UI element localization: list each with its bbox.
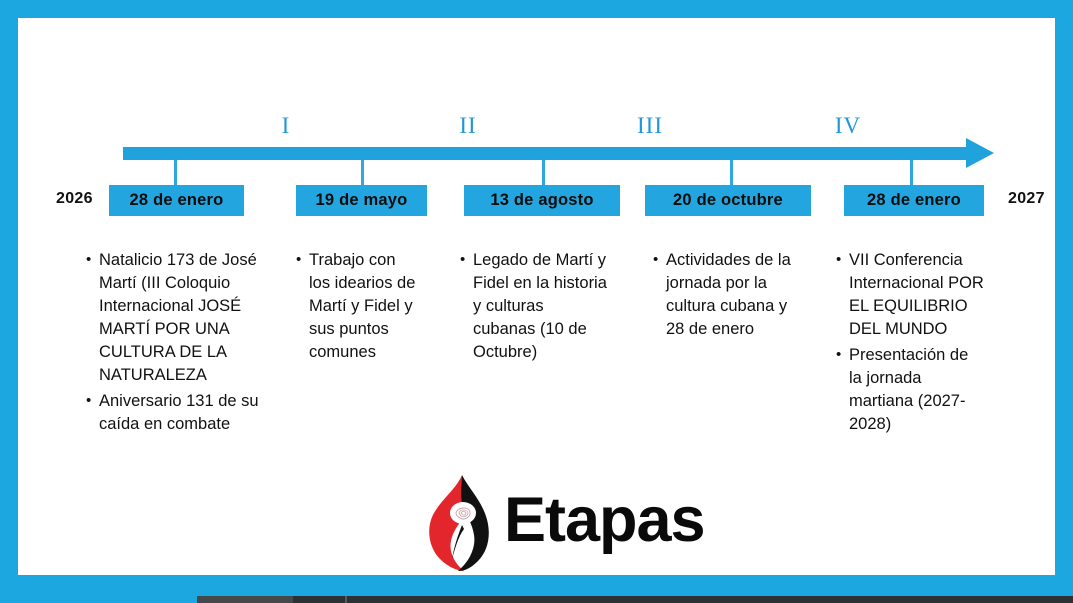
phase-numeral-2: II	[438, 114, 498, 137]
phase-numeral-3: III	[620, 114, 680, 137]
timeline-axis-bar	[123, 147, 968, 160]
milestone-details-2: Trabajo con los idearios de Martí y Fide…	[296, 249, 416, 367]
milestone-details-1: Natalicio 173 de José Martí (III Coloqui…	[86, 249, 266, 439]
list-item: Actividades de la jornada por la cultura…	[653, 249, 806, 341]
milestone-details-3: Legado de Martí y Fidel en la historia y…	[460, 249, 610, 367]
milestone-connector-4	[730, 160, 733, 185]
milestone-details-4: Actividades de la jornada por la cultura…	[653, 249, 806, 344]
milestone-connector-2	[361, 160, 364, 185]
phase-numeral-4: IV	[818, 114, 878, 137]
milestone-connector-5	[910, 160, 913, 185]
brand-title: Etapas	[504, 489, 705, 558]
list-item: Aniversario 131 de su caída en combate	[86, 390, 266, 436]
chrome-segment-divider	[345, 596, 347, 603]
milestone-details-5: VII Conferencia Internacional POR EL EQU…	[836, 249, 984, 439]
list-item: Legado de Martí y Fidel en la historia y…	[460, 249, 610, 364]
milestone-date-box-5[interactable]: 28 de enero	[844, 185, 984, 216]
timeline-arrow-icon	[966, 138, 994, 168]
milestone-date-box-4[interactable]: 20 de octubre	[645, 185, 811, 216]
milestone-date-box-3[interactable]: 13 de agosto	[464, 185, 620, 216]
flame-rose-logo-icon	[422, 473, 498, 573]
milestone-connector-1	[174, 160, 177, 185]
list-item: Presentación de la jornada martiana (202…	[836, 344, 984, 436]
list-item: Trabajo con los idearios de Martí y Fide…	[296, 249, 416, 364]
year-start-label: 2026	[56, 190, 93, 208]
brand-lockup: Etapas	[422, 473, 705, 573]
year-end-label: 2027	[1008, 190, 1045, 208]
slide-canvas: I II III IV 2026 2027 28 de enero 19 de …	[0, 0, 1073, 603]
slide-content-area: I II III IV 2026 2027 28 de enero 19 de …	[18, 18, 1055, 575]
milestone-date-box-1[interactable]: 28 de enero	[109, 185, 244, 216]
phase-numeral-1: I	[256, 114, 316, 137]
milestone-date-box-2[interactable]: 19 de mayo	[296, 185, 427, 216]
window-chrome-strip	[197, 596, 1073, 603]
list-item: VII Conferencia Internacional POR EL EQU…	[836, 249, 984, 341]
milestone-connector-3	[542, 160, 545, 185]
chrome-segment-left	[197, 596, 293, 603]
list-item: Natalicio 173 de José Martí (III Coloqui…	[86, 249, 266, 387]
